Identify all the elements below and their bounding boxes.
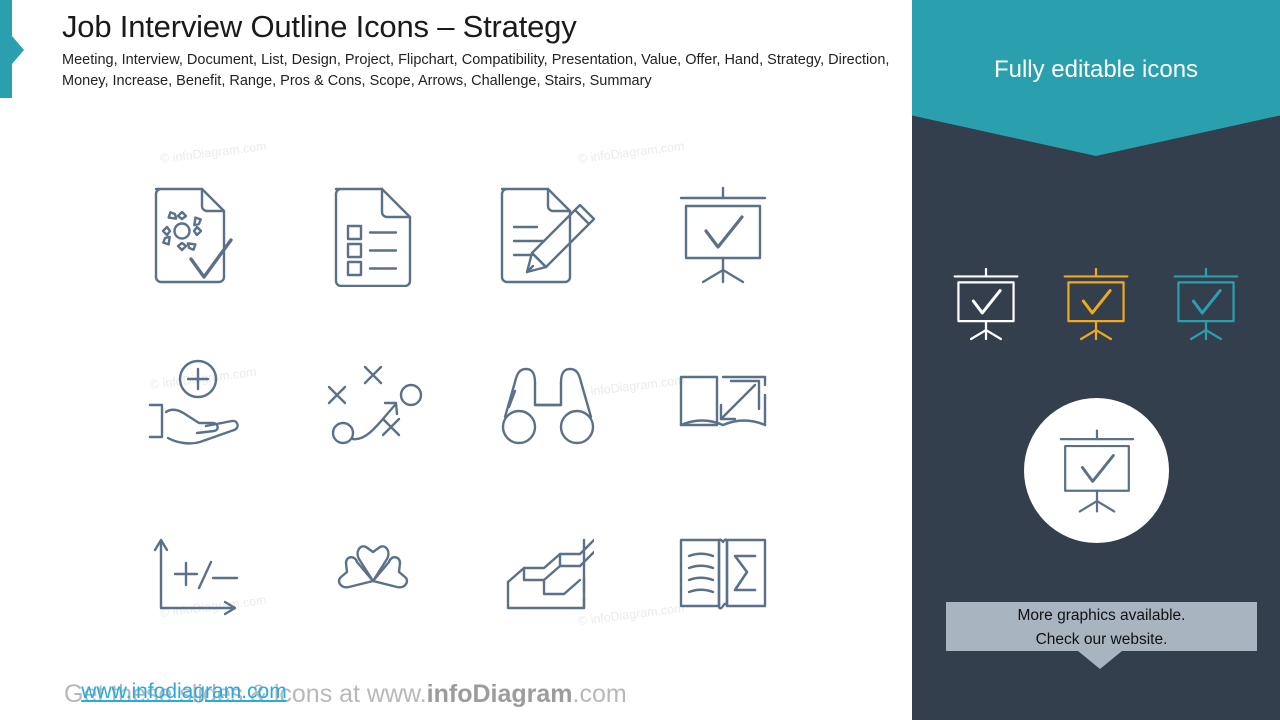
callout-line-2: Check our website. — [946, 628, 1257, 652]
book-arrow-increase-icon — [675, 365, 771, 445]
icon-hand-plus-offer[interactable] — [110, 320, 285, 490]
presentation-check-white-icon[interactable] — [942, 266, 1030, 342]
icon-document-pencil[interactable] — [460, 150, 635, 320]
icon-book-sigma-summary[interactable] — [635, 490, 810, 660]
presentation-check-orange-icon[interactable] — [1052, 266, 1140, 342]
color-variants-row — [912, 252, 1280, 356]
icon-document-checklist[interactable] — [285, 150, 460, 320]
presentation-check-teal-icon[interactable] — [1162, 266, 1250, 342]
icon-converging-arrows[interactable] — [285, 490, 460, 660]
callout-line-1: More graphics available. — [946, 602, 1257, 628]
callout-tail — [1078, 651, 1122, 669]
accent-chevron-icon — [12, 36, 24, 64]
icon-strategy-tactics[interactable] — [285, 320, 460, 490]
slide-canvas: Job Interview Outline Icons – Strategy M… — [0, 0, 912, 720]
icon-binoculars-scope[interactable] — [460, 320, 635, 490]
converging-arrows-icon — [323, 531, 423, 619]
icon-presentation-check[interactable] — [635, 150, 810, 320]
document-checklist-icon — [331, 183, 415, 287]
icon-grid — [110, 150, 810, 630]
panel-header-title: Fully editable icons — [912, 56, 1280, 84]
icon-stairs-challenge[interactable] — [460, 490, 635, 660]
page-title: Job Interview Outline Icons – Strategy — [62, 8, 577, 46]
pros-cons-axis-icon — [151, 534, 245, 616]
website-link[interactable]: www.infodiagram.com — [0, 680, 368, 704]
icon-pros-cons-axis[interactable] — [110, 490, 285, 660]
page-subtitle: Meeting, Interview, Document, List, Desi… — [62, 50, 892, 92]
circle-badge[interactable] — [1024, 398, 1169, 543]
strategy-tactics-icon — [321, 361, 425, 449]
presentation-check-icon — [673, 184, 773, 286]
hand-plus-offer-icon — [144, 358, 252, 452]
book-sigma-summary-icon — [677, 532, 769, 618]
callout-box: More graphics available. Check our websi… — [946, 602, 1257, 651]
document-gear-check-icon — [148, 183, 248, 288]
footer-brand: infoDiagram — [427, 680, 573, 708]
stairs-challenge-icon — [502, 532, 594, 618]
presentation-check-slate-icon — [1054, 427, 1140, 515]
footer-suffix: .com — [573, 680, 627, 708]
accent-bar — [0, 0, 12, 98]
document-pencil-icon — [496, 183, 600, 288]
icon-book-arrow-increase[interactable] — [635, 320, 810, 490]
binoculars-scope-icon — [497, 361, 599, 449]
icon-document-gear-check[interactable] — [110, 150, 285, 320]
